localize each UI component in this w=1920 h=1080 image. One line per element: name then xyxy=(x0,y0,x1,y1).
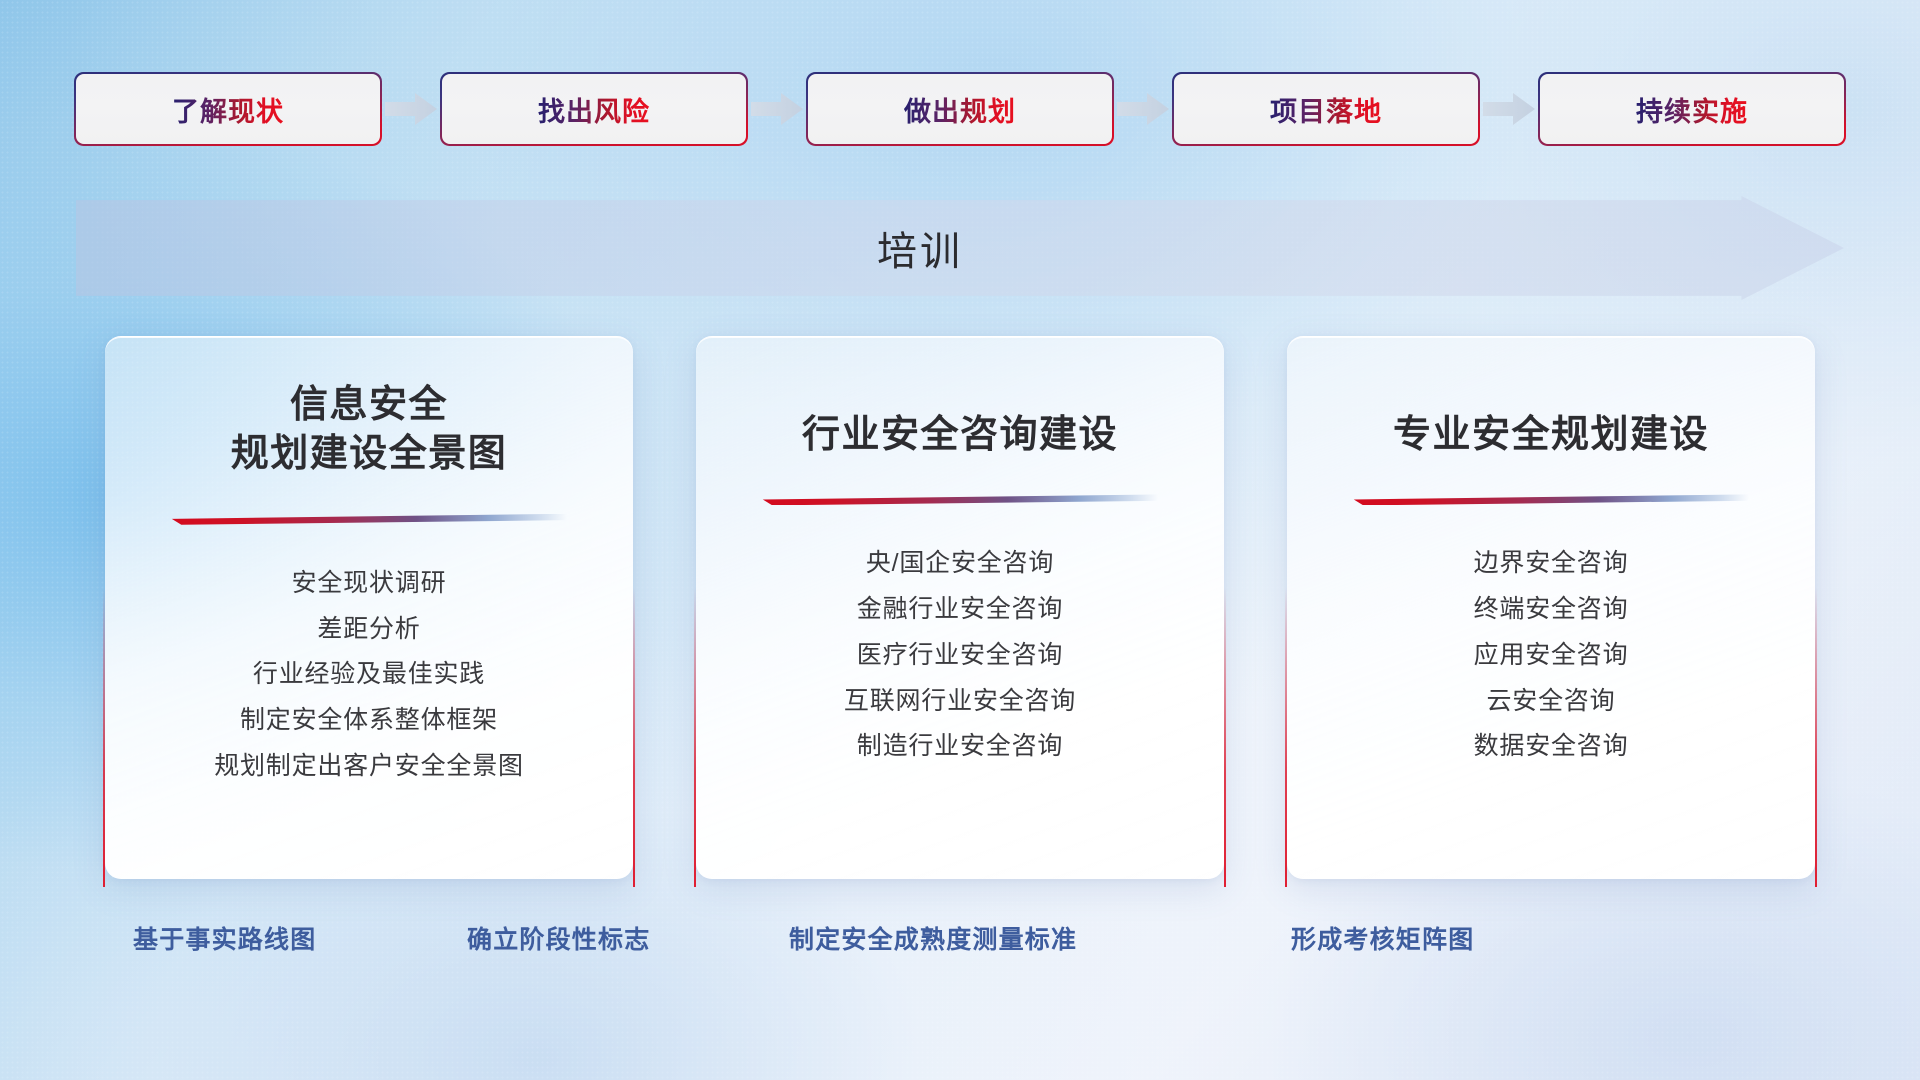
list-item: 金融行业安全咨询 xyxy=(857,595,1063,624)
title-accent-line xyxy=(762,494,1158,505)
title-accent-line xyxy=(1353,494,1749,505)
list-item: 数据安全咨询 xyxy=(1474,732,1629,761)
step-label: 做出规划 xyxy=(904,90,1016,129)
step-box-4[interactable]: 项目落地 xyxy=(1174,74,1478,144)
feature-card-3[interactable]: 专业安全规划建设 边界安全咨询 终端安全咨询 应用安全咨询 云安全咨询 数据安全… xyxy=(1287,336,1815,879)
list-item: 央/国企安全咨询 xyxy=(866,549,1054,578)
step-box-5[interactable]: 持续实施 xyxy=(1540,74,1844,144)
title-accent-line xyxy=(171,514,567,525)
list-item: 终端安全咨询 xyxy=(1474,595,1629,624)
accent-line-fill xyxy=(171,514,567,525)
list-item: 规划制定出客户安全全景图 xyxy=(214,752,524,781)
step-label: 找出风险 xyxy=(538,90,650,129)
accent-line-fill xyxy=(762,494,1158,505)
caption-label-3: 制定安全成熟度测量标准 xyxy=(789,920,1077,956)
list-item: 差距分析 xyxy=(317,615,420,644)
list-item: 制定安全体系整体框架 xyxy=(240,706,498,735)
list-item: 行业经验及最佳实践 xyxy=(253,660,485,689)
card-wrapper-1: 信息安全 规划建设全景图 安全现状调研 差距分析 行业经验及最佳实践 制定安全体… xyxy=(105,336,633,879)
training-band: 培训 xyxy=(76,196,1844,300)
list-item: 安全现状调研 xyxy=(292,569,447,598)
card-item-list: 边界安全咨询 终端安全咨询 应用安全咨询 云安全咨询 数据安全咨询 xyxy=(1474,549,1629,761)
arrow-right-icon-2 xyxy=(746,92,808,126)
caption-row: 基于事实路线图 确立阶段性标志 制定安全成熟度测量标准 形成考核矩阵图 xyxy=(0,920,1920,970)
step-box-1[interactable]: 了解现状 xyxy=(76,74,380,144)
list-item: 边界安全咨询 xyxy=(1474,549,1629,578)
card-wrapper-2: 行业安全咨询建设 央/国企安全咨询 金融行业安全咨询 医疗行业安全咨询 互联网行… xyxy=(696,336,1224,879)
step-box-2[interactable]: 找出风险 xyxy=(442,74,746,144)
caption-label-4: 形成考核矩阵图 xyxy=(1291,920,1474,956)
list-item: 云安全咨询 xyxy=(1486,687,1615,716)
caption-label-1: 基于事实路线图 xyxy=(133,920,316,956)
step-label: 持续实施 xyxy=(1636,90,1748,129)
step-label: 项目落地 xyxy=(1270,90,1382,129)
feature-card-2[interactable]: 行业安全咨询建设 央/国企安全咨询 金融行业安全咨询 医疗行业安全咨询 互联网行… xyxy=(696,336,1224,879)
arrow-right-icon-3 xyxy=(1112,92,1174,126)
card-wrapper-3: 专业安全规划建设 边界安全咨询 终端安全咨询 应用安全咨询 云安全咨询 数据安全… xyxy=(1287,336,1815,879)
card-title: 专业安全规划建设 xyxy=(1393,411,1709,460)
step-box-3[interactable]: 做出规划 xyxy=(808,74,1112,144)
list-item: 互联网行业安全咨询 xyxy=(844,687,1076,716)
process-step-row: 了解现状 找出风险 做出规划 xyxy=(0,74,1920,144)
caption-label-2: 确立阶段性标志 xyxy=(467,920,650,956)
card-item-list: 央/国企安全咨询 金融行业安全咨询 医疗行业安全咨询 互联网行业安全咨询 制造行… xyxy=(844,549,1076,761)
list-item: 医疗行业安全咨询 xyxy=(857,641,1063,670)
card-item-list: 安全现状调研 差距分析 行业经验及最佳实践 制定安全体系整体框架 规划制定出客户… xyxy=(214,569,524,781)
card-title: 行业安全咨询建设 xyxy=(802,411,1118,460)
card-title: 信息安全 规划建设全景图 xyxy=(231,381,508,480)
arrow-right-icon-4 xyxy=(1478,92,1540,126)
arrow-right-icon-1 xyxy=(380,92,442,126)
feature-card-1[interactable]: 信息安全 规划建设全景图 安全现状调研 差距分析 行业经验及最佳实践 制定安全体… xyxy=(105,336,633,879)
step-label: 了解现状 xyxy=(172,90,284,129)
list-item: 应用安全咨询 xyxy=(1474,641,1629,670)
slide-canvas: 了解现状 找出风险 做出规划 xyxy=(0,0,1920,1080)
feature-card-row: 信息安全 规划建设全景图 安全现状调研 差距分析 行业经验及最佳实践 制定安全体… xyxy=(0,336,1920,879)
accent-line-fill xyxy=(1353,494,1749,505)
training-band-label: 培训 xyxy=(76,196,1764,300)
list-item: 制造行业安全咨询 xyxy=(857,732,1063,761)
